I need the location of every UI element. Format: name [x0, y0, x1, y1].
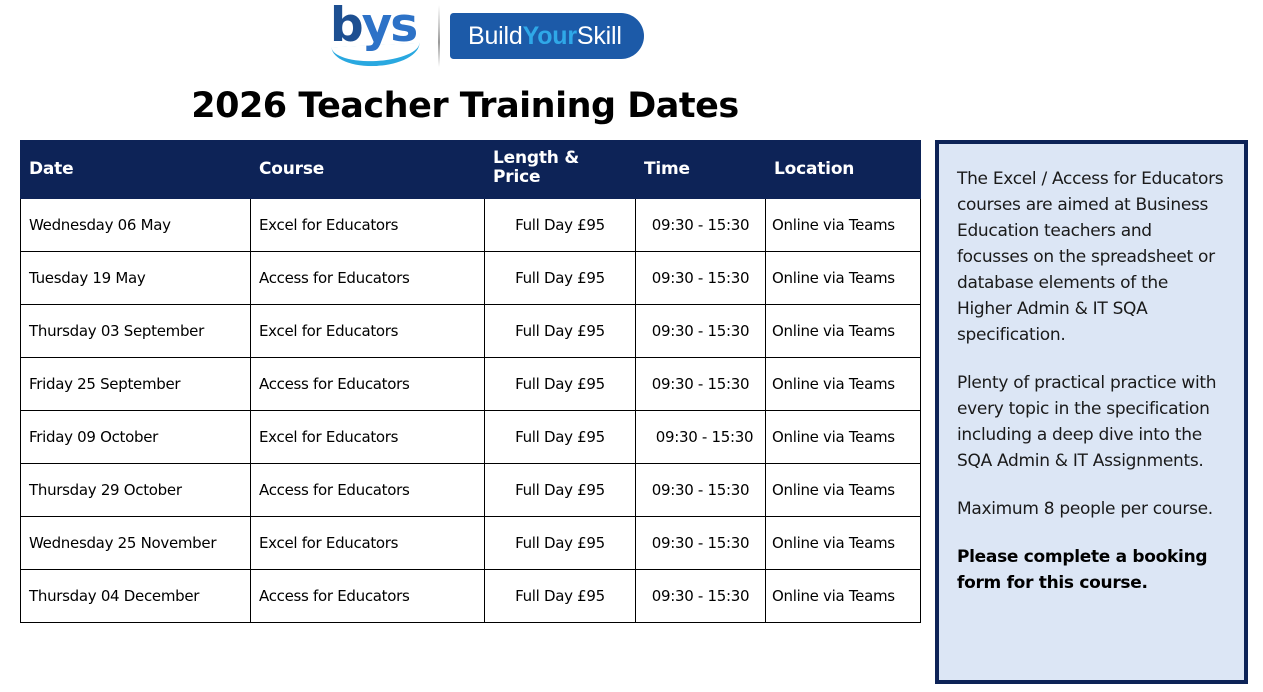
column-header-date: Date [21, 141, 251, 199]
cell-length-price: Full Day £95 [485, 199, 636, 252]
cell-time: 09:30 - 15:30 [636, 570, 766, 623]
table-row: Tuesday 19 MayAccess for EducatorsFull D… [21, 252, 921, 305]
badge-word-build: Build [468, 22, 523, 51]
length-price-line1: Length & [493, 148, 579, 168]
swoosh-icon [332, 43, 421, 69]
column-header-location: Location [766, 141, 921, 199]
cell-date: Thursday 29 October [21, 464, 251, 517]
cell-course: Excel for Educators [251, 517, 485, 570]
cell-date: Tuesday 19 May [21, 252, 251, 305]
cell-date: Wednesday 06 May [21, 199, 251, 252]
badge-word-skill: Skill [577, 22, 622, 51]
cell-course: Excel for Educators [251, 411, 485, 464]
badge-word-your: Your [523, 22, 577, 51]
table-row: Friday 25 SeptemberAccess for EducatorsF… [21, 358, 921, 411]
buildyourskill-badge: BuildYourSkill [450, 13, 644, 59]
course-info-panel: The Excel / Access for Educators courses… [935, 140, 1248, 684]
cell-date: Friday 09 October [21, 411, 251, 464]
column-header-time: Time [636, 141, 766, 199]
cell-time: 09:30 - 15:30 [636, 411, 766, 464]
cell-location: Online via Teams [766, 464, 921, 517]
info-paragraph-practice: Plenty of practical practice with every … [957, 370, 1226, 474]
cell-course: Excel for Educators [251, 199, 485, 252]
cell-location: Online via Teams [766, 199, 921, 252]
logo-divider [438, 5, 440, 67]
bys-logomark-icon: bys [330, 5, 426, 67]
length-price-line2: Price [493, 167, 540, 187]
cell-date: Wednesday 25 November [21, 517, 251, 570]
brand-logo: bys BuildYourSkill [330, 4, 644, 68]
cell-time: 09:30 - 15:30 [636, 199, 766, 252]
cell-course: Access for Educators [251, 464, 485, 517]
cell-date: Friday 25 September [21, 358, 251, 411]
cell-course: Access for Educators [251, 570, 485, 623]
cell-length-price: Full Day £95 [485, 411, 636, 464]
cell-length-price: Full Day £95 [485, 464, 636, 517]
cell-location: Online via Teams [766, 305, 921, 358]
table-row: Thursday 04 DecemberAccess for Educators… [21, 570, 921, 623]
cell-course: Access for Educators [251, 252, 485, 305]
page-title: 2026 Teacher Training Dates [0, 86, 930, 126]
cell-length-price: Full Day £95 [485, 358, 636, 411]
column-header-course: Course [251, 141, 485, 199]
training-dates-table: Date Course Length &Price Time Location … [20, 140, 921, 623]
cell-date: Thursday 04 December [21, 570, 251, 623]
table-row: Wednesday 06 MayExcel for EducatorsFull … [21, 199, 921, 252]
cell-course: Access for Educators [251, 358, 485, 411]
cell-time: 09:30 - 15:30 [636, 305, 766, 358]
cell-location: Online via Teams [766, 517, 921, 570]
cell-time: 09:30 - 15:30 [636, 464, 766, 517]
info-paragraph-capacity: Maximum 8 people per course. [957, 496, 1226, 522]
table-header-row: Date Course Length &Price Time Location [21, 141, 921, 199]
table-row: Thursday 03 SeptemberExcel for Educators… [21, 305, 921, 358]
cell-length-price: Full Day £95 [485, 517, 636, 570]
cell-time: 09:30 - 15:30 [636, 252, 766, 305]
cell-length-price: Full Day £95 [485, 305, 636, 358]
cell-time: 09:30 - 15:30 [636, 517, 766, 570]
cell-length-price: Full Day £95 [485, 570, 636, 623]
cell-location: Online via Teams [766, 411, 921, 464]
cell-time: 09:30 - 15:30 [636, 358, 766, 411]
column-header-length-price: Length &Price [485, 141, 636, 199]
cell-length-price: Full Day £95 [485, 252, 636, 305]
info-paragraph-booking-note: Please complete a booking form for this … [957, 544, 1226, 596]
cell-course: Excel for Educators [251, 305, 485, 358]
info-paragraph-overview: The Excel / Access for Educators courses… [957, 166, 1226, 348]
table-row: Wednesday 25 NovemberExcel for Educators… [21, 517, 921, 570]
cell-date: Thursday 03 September [21, 305, 251, 358]
logo-bar: bys BuildYourSkill [0, 0, 1263, 74]
cell-location: Online via Teams [766, 570, 921, 623]
cell-location: Online via Teams [766, 252, 921, 305]
table-row: Friday 09 OctoberExcel for EducatorsFull… [21, 411, 921, 464]
cell-location: Online via Teams [766, 358, 921, 411]
table-row: Thursday 29 OctoberAccess for EducatorsF… [21, 464, 921, 517]
